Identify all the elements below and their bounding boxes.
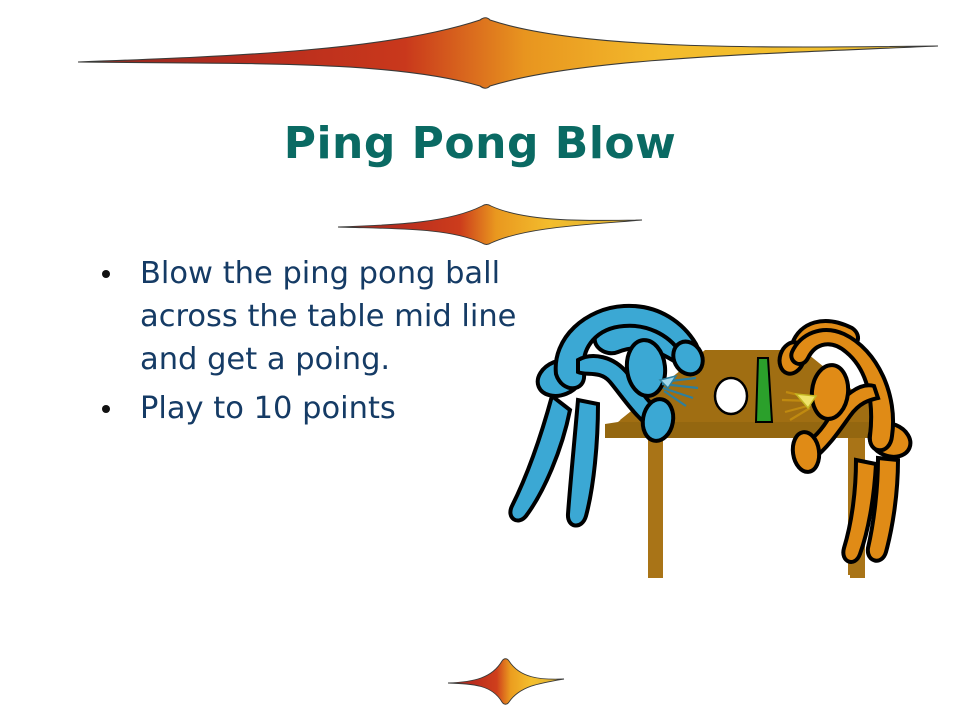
slide-canvas: Ping Pong Blow Blow the ping pong ball a… (0, 0, 960, 720)
right-figure (776, 321, 916, 562)
bullet-dot-icon (102, 270, 110, 278)
ping-pong-blow-illustration (500, 300, 950, 600)
bullet-dot-icon (102, 405, 110, 413)
top-diamond-divider (60, 6, 960, 96)
bottom-diamond-divider (440, 655, 570, 707)
ping-pong-ball (715, 378, 747, 414)
table-net (756, 358, 772, 422)
page-title: Ping Pong Blow (0, 120, 960, 168)
list-item: Play to 10 points (98, 387, 528, 430)
bullet-text: Play to 10 points (140, 391, 396, 426)
bullet-text: Blow the ping pong ball across the table… (140, 256, 516, 377)
bullet-list: Blow the ping pong ball across the table… (98, 252, 528, 436)
middle-diamond-divider (330, 200, 650, 250)
list-item: Blow the ping pong ball across the table… (98, 252, 528, 381)
